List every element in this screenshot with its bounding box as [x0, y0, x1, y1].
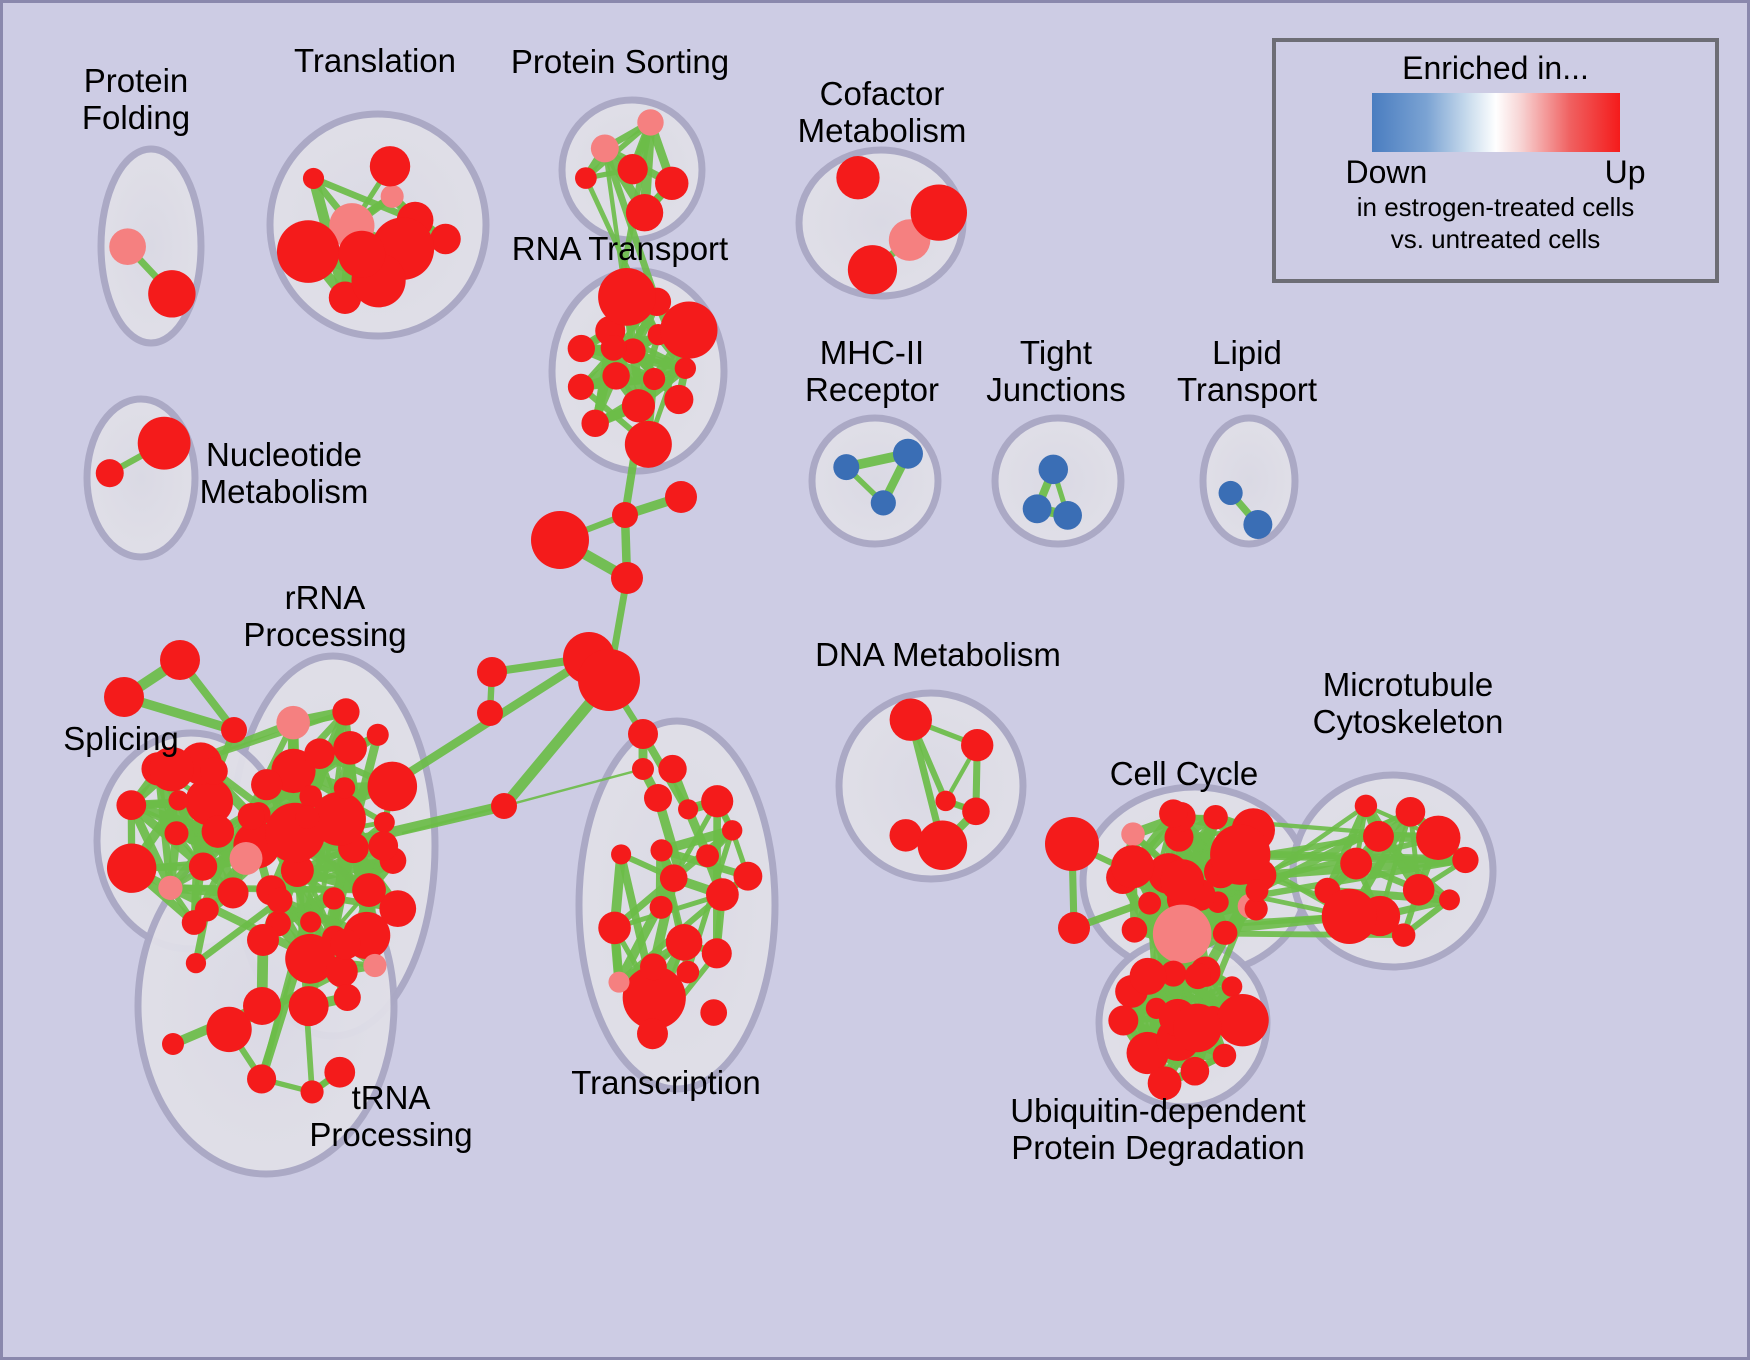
network-node: [575, 167, 597, 189]
network-node: [202, 815, 235, 848]
network-node: [1210, 824, 1270, 884]
network-node: [918, 820, 968, 870]
network-node: [696, 844, 719, 867]
network-node: [650, 839, 672, 861]
network-node: [363, 954, 386, 977]
network-node: [1243, 510, 1272, 539]
network-node: [334, 777, 355, 798]
network-node: [601, 335, 627, 361]
network-node: [267, 888, 293, 914]
network-node: [890, 699, 932, 741]
network-node: [628, 719, 658, 749]
network-node: [1403, 874, 1435, 906]
network-node: [1181, 1057, 1210, 1086]
network-node: [733, 862, 762, 891]
network-node: [107, 843, 156, 892]
network-node: [247, 1064, 276, 1093]
network-node: [626, 194, 663, 231]
network-node: [200, 757, 228, 785]
network-node: [1148, 1066, 1182, 1100]
network-node: [164, 821, 188, 845]
network-node: [568, 335, 595, 362]
network-node: [611, 562, 643, 594]
legend-subtitle-line2: vs. untreated cells: [1391, 224, 1601, 255]
network-node: [160, 640, 200, 680]
network-node: [296, 805, 320, 829]
network-node: [368, 762, 418, 812]
network-node: [333, 731, 367, 765]
network-node: [243, 987, 281, 1025]
legend-up-label: Up: [1605, 154, 1646, 191]
network-node: [833, 454, 859, 480]
network-node: [644, 784, 672, 812]
network-node: [1153, 905, 1212, 964]
network-node: [1185, 963, 1211, 989]
network-node: [706, 878, 739, 911]
network-node: [702, 938, 732, 968]
legend-subtitle-line1: in estrogen-treated cells: [1357, 192, 1634, 223]
network-node: [1213, 921, 1237, 945]
network-node: [1108, 1006, 1138, 1036]
network-node: [323, 887, 345, 909]
network-node: [1122, 917, 1148, 943]
network-node: [326, 955, 358, 987]
network-node: [109, 228, 146, 265]
network-node: [611, 844, 631, 864]
network-node: [1045, 817, 1099, 871]
network-node: [1340, 848, 1372, 880]
network-node: [289, 986, 329, 1026]
network-node: [700, 999, 727, 1026]
network-node: [622, 389, 655, 422]
network-node: [149, 747, 193, 791]
legend-endpoints: Down Up: [1346, 154, 1646, 191]
network-node: [148, 270, 195, 317]
enrichment-map-figure: Protein FoldingTranslationProtein Sortin…: [0, 0, 1750, 1360]
network-node: [1439, 889, 1460, 910]
network-node: [722, 820, 742, 840]
network-node: [116, 790, 146, 820]
network-node: [1355, 795, 1377, 817]
network-node: [911, 184, 967, 240]
network-node: [300, 911, 321, 932]
network-node: [961, 729, 993, 761]
network-node: [568, 374, 594, 400]
network-node: [312, 792, 366, 846]
network-node: [1219, 481, 1243, 505]
network-node: [637, 1018, 668, 1049]
network-node: [96, 459, 124, 487]
network-node: [381, 185, 404, 208]
network-node: [1053, 501, 1082, 530]
network-node: [168, 790, 188, 810]
legend-color-bar: [1372, 93, 1620, 152]
network-node: [330, 929, 361, 960]
network-node: [1216, 994, 1268, 1046]
network-node: [186, 953, 206, 973]
network-node: [598, 268, 656, 326]
network-node: [332, 698, 359, 725]
network-node: [640, 953, 667, 980]
network-node: [1452, 847, 1478, 873]
network-node: [675, 358, 696, 379]
network-node: [104, 677, 144, 717]
network-node: [138, 417, 191, 470]
network-node: [251, 769, 282, 800]
network-node: [664, 385, 693, 414]
network-node: [230, 842, 263, 875]
legend-down-label: Down: [1346, 154, 1428, 191]
network-node: [370, 146, 410, 186]
network-node: [1363, 821, 1394, 852]
network-node: [301, 1080, 324, 1103]
network-node: [303, 168, 324, 189]
network-node: [430, 224, 461, 255]
network-node: [677, 961, 700, 984]
network-node: [632, 758, 654, 780]
cluster-ellipse: [812, 418, 938, 544]
network-node: [1138, 892, 1161, 915]
network-node: [369, 831, 399, 861]
network-node: [608, 972, 629, 993]
network-node: [848, 245, 897, 294]
network-node: [637, 109, 663, 135]
network-node: [1039, 455, 1068, 484]
network-node: [1111, 845, 1154, 888]
network-node: [658, 755, 686, 783]
network-node: [477, 657, 507, 687]
network-node: [189, 852, 217, 880]
network-node: [625, 421, 672, 468]
network-node: [701, 785, 733, 817]
network-node: [643, 368, 665, 390]
network-node: [158, 876, 182, 900]
network-node: [217, 877, 248, 908]
legend-title: Enriched in...: [1402, 50, 1589, 87]
network-node: [367, 724, 389, 746]
network-node: [578, 649, 640, 711]
network-node: [247, 924, 279, 956]
network-node: [324, 1057, 355, 1088]
network-node: [655, 167, 688, 200]
network-node: [374, 812, 395, 833]
network-node: [612, 502, 638, 528]
network-node: [477, 700, 503, 726]
network-node: [889, 819, 922, 852]
network-node: [531, 511, 589, 569]
network-node: [277, 220, 340, 283]
network-node: [602, 362, 629, 389]
network-node: [338, 231, 385, 278]
network-node: [871, 490, 896, 515]
network-node: [1222, 976, 1243, 997]
network-node: [617, 154, 647, 184]
network-node: [666, 924, 703, 961]
network-node: [893, 439, 923, 469]
network-node: [1160, 859, 1204, 903]
network-node: [238, 803, 265, 830]
network-node: [1213, 1044, 1237, 1068]
network-node: [591, 134, 619, 162]
legend-panel: Enriched in... Down Up in estrogen-treat…: [1272, 38, 1719, 283]
network-node: [1159, 799, 1187, 827]
network-node: [1023, 494, 1052, 523]
network-node: [1130, 958, 1167, 995]
network-node: [962, 798, 990, 826]
network-node: [1121, 822, 1145, 846]
network-node: [650, 896, 673, 919]
network-node: [1173, 1004, 1222, 1053]
network-node: [195, 898, 219, 922]
network-node: [678, 799, 698, 819]
network-node: [1058, 912, 1090, 944]
network-node: [221, 717, 247, 743]
network-node: [491, 793, 517, 819]
network-node: [665, 481, 697, 513]
network-node: [1322, 889, 1377, 944]
network-node: [1203, 805, 1227, 829]
network-node: [276, 706, 310, 740]
network-node: [1245, 879, 1268, 902]
network-node: [660, 302, 717, 359]
network-node: [935, 791, 955, 811]
network-node: [836, 156, 879, 199]
network-node: [162, 1033, 184, 1055]
network-node: [1416, 816, 1460, 860]
network-node: [598, 912, 631, 945]
network-node: [334, 984, 361, 1011]
network-node: [1396, 797, 1426, 827]
network-node: [352, 873, 386, 907]
network-node: [581, 410, 608, 437]
network-node: [304, 738, 335, 769]
network-node: [660, 864, 688, 892]
